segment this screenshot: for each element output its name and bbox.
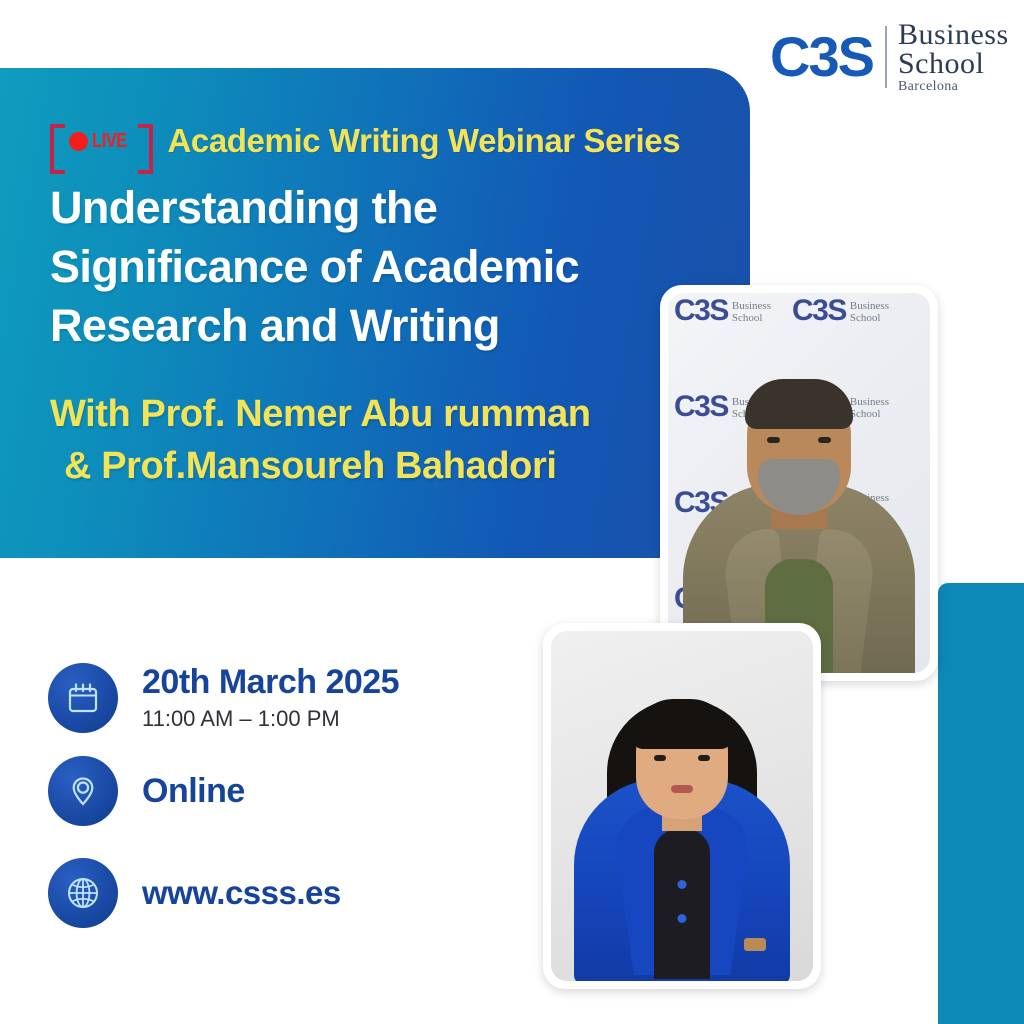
live-label: LIVE (92, 130, 127, 153)
event-location-text: Online (142, 771, 245, 811)
eye-right (698, 755, 710, 761)
backdrop-words: BusinessSchool (732, 300, 771, 324)
logo-business-text: Business (898, 20, 1009, 49)
location-pin-icon (48, 756, 118, 826)
eye-left (654, 755, 666, 761)
teal-decorative-block (938, 583, 1024, 1024)
webinar-poster: C3S Business School Barcelona LIVE Acade… (0, 0, 1024, 1024)
event-website[interactable]: www.csss.es (142, 873, 341, 913)
event-date: 20th March 2025 (142, 662, 399, 702)
live-badge: LIVE (50, 128, 153, 155)
event-location-row: Online (48, 756, 568, 826)
logo-school-text: School (898, 49, 1009, 78)
speaker-1-photo: C3S BusinessSchool C3S BusinessSchool C3… (668, 293, 930, 673)
speaker-1-head (747, 385, 851, 513)
event-website-row[interactable]: www.csss.es (48, 858, 568, 928)
blazer-button (678, 880, 687, 889)
eye-left (767, 437, 780, 443)
globe-icon (48, 858, 118, 928)
event-date-row: 20th March 2025 11:00 AM – 1:00 PM (48, 662, 568, 734)
live-dot-icon (69, 132, 88, 151)
inner-top (654, 829, 710, 979)
headline-line-1: Understanding the (50, 178, 690, 237)
event-details: 20th March 2025 11:00 AM – 1:00 PM Onlin… (48, 662, 568, 962)
wristwatch (744, 938, 766, 951)
headline-line-2: Significance of Academic (50, 237, 690, 296)
logo-mark-text: C3S (770, 29, 885, 85)
backdrop-logo: C3S BusinessSchool (792, 297, 889, 325)
series-title: Academic Writing Webinar Series (167, 122, 680, 160)
backdrop-logo: C3S BusinessSchool (674, 297, 771, 325)
event-time: 11:00 AM – 1:00 PM (142, 704, 399, 734)
backdrop-mark: C3S (792, 297, 846, 325)
event-website-text: www.csss.es (142, 873, 341, 913)
beard (758, 459, 840, 515)
speaker-line-2: & Prof.Mansoureh Bahadori (50, 440, 690, 492)
headline-line-3: Research and Writing (50, 296, 690, 355)
c3s-logo: C3S Business School Barcelona (770, 18, 1016, 96)
backdrop-mark: C3S (674, 297, 728, 325)
backdrop-mark: C3S (674, 393, 728, 421)
speaker-2-photo (551, 631, 813, 981)
hero-panel: LIVE Academic Writing Webinar Series Und… (0, 68, 750, 558)
logo-wordmark: Business School Barcelona (898, 20, 1009, 95)
lips (671, 785, 693, 793)
speaker-2-head (636, 707, 728, 819)
speaker-2-photo-card (543, 623, 821, 989)
event-date-text: 20th March 2025 11:00 AM – 1:00 PM (142, 662, 399, 734)
backdrop-words: BusinessSchool (850, 396, 889, 420)
event-location: Online (142, 771, 245, 811)
live-series-row: LIVE Academic Writing Webinar Series (50, 122, 680, 160)
hair (745, 379, 853, 429)
eye-right (818, 437, 831, 443)
calendar-icon (48, 663, 118, 733)
backdrop-words: BusinessSchool (850, 300, 889, 324)
speaker-names: With Prof. Nemer Abu rumman & Prof.Manso… (50, 388, 690, 492)
speaker-1-photo-card: C3S BusinessSchool C3S BusinessSchool C3… (660, 285, 938, 681)
blazer-button (678, 914, 687, 923)
hero-headline: Understanding the Significance of Academ… (50, 178, 690, 355)
speaker-line-1: With Prof. Nemer Abu rumman (50, 388, 690, 440)
logo-city-text: Barcelona (898, 78, 1009, 95)
logo-divider (885, 26, 887, 88)
